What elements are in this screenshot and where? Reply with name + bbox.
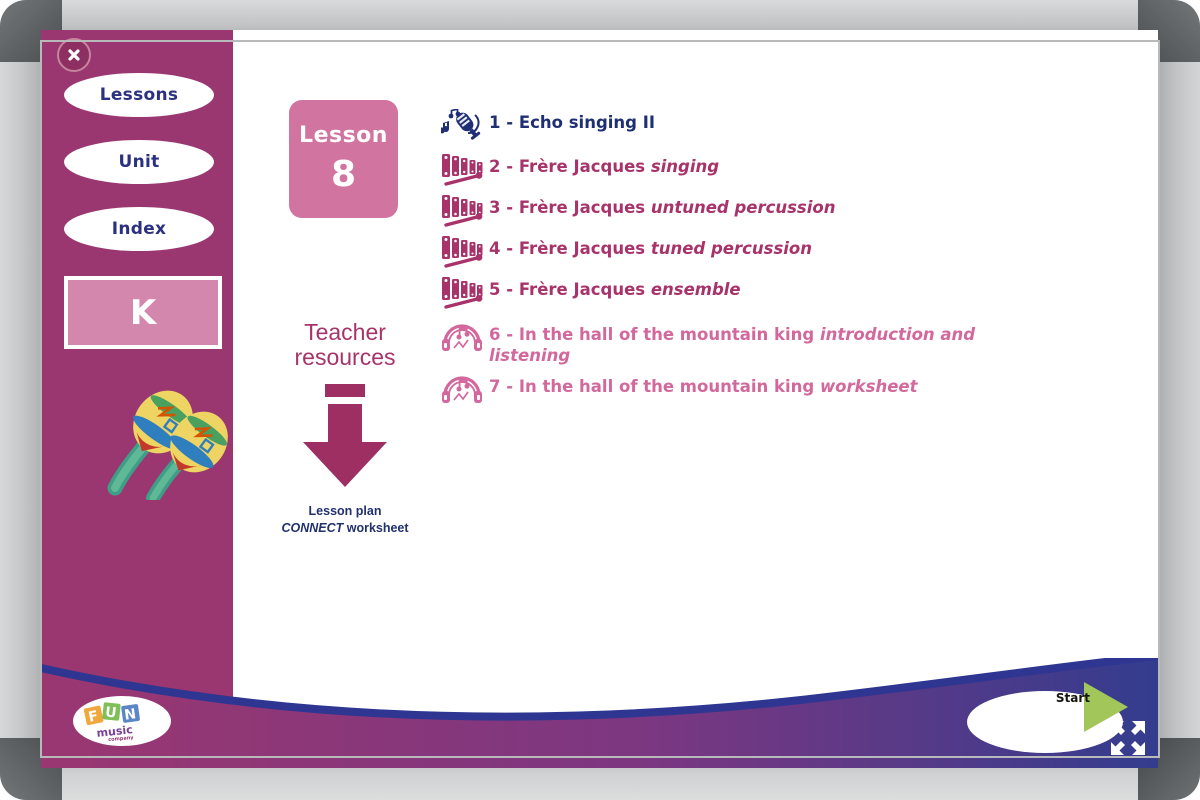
close-icon[interactable] xyxy=(57,38,91,72)
svg-text:N: N xyxy=(123,706,137,723)
xylophone-icon xyxy=(441,234,489,268)
sidebar-item-unit[interactable]: Unit xyxy=(64,140,214,184)
microphone-notes-glyph xyxy=(441,109,485,141)
sidebar-item-label: Unit xyxy=(118,152,159,172)
xylophone-glyph xyxy=(441,275,485,309)
lesson-card-label: Lesson xyxy=(299,125,388,147)
lesson-canvas: Lessons Unit Index K xyxy=(41,30,1158,768)
teacher-resources-title: Teacher resources xyxy=(265,320,425,370)
list-item-title: Echo singing II xyxy=(519,113,655,132)
close-x-glyph xyxy=(67,48,81,62)
list-item-text: 2 - Frère Jacques singing xyxy=(489,152,719,177)
list-item-dash: - xyxy=(506,157,513,176)
list-item-title: Frère Jacques xyxy=(519,239,651,258)
svg-text:U: U xyxy=(104,704,117,721)
list-item-title: In the hall of the mountain king xyxy=(519,325,820,344)
download-arrow-icon xyxy=(291,384,399,490)
list-item-text: 6 - In the hall of the mountain king int… xyxy=(489,320,1001,366)
list-item-title: In the hall of the mountain king xyxy=(519,377,820,396)
list-item-title: Frère Jacques xyxy=(519,280,651,299)
xylophone-glyph xyxy=(441,152,485,186)
list-item-number: 1 xyxy=(489,113,500,132)
sidebar-item-label: Lessons xyxy=(100,85,179,105)
list-item-text: 5 - Frère Jacques ensemble xyxy=(489,275,741,300)
svg-text:company: company xyxy=(108,735,135,743)
list-item-dash: - xyxy=(506,280,513,299)
sidebar-item-label: Index xyxy=(112,219,167,239)
worksheet-word: worksheet xyxy=(343,521,408,535)
lesson-number-card[interactable]: Lesson 8 xyxy=(289,100,398,218)
list-item-dash: - xyxy=(506,325,513,344)
headphones-notes-icon xyxy=(441,372,489,406)
list-item[interactable]: 5 - Frère Jacques ensemble xyxy=(441,275,1001,309)
sidebar-item-lessons[interactable]: Lessons xyxy=(64,73,214,117)
lesson-card-number: 8 xyxy=(331,157,356,193)
fun-music-logo-glyph: F U N music company xyxy=(81,699,163,743)
list-item-dash: - xyxy=(506,377,513,396)
list-item-number: 3 xyxy=(489,198,500,217)
list-item-emphasis: ensemble xyxy=(651,280,741,299)
maracas-icon xyxy=(93,380,233,500)
frame-right-edge xyxy=(1156,32,1200,768)
fun-music-logo[interactable]: F U N music company xyxy=(73,696,171,746)
list-item-text: 3 - Frère Jacques untuned percussion xyxy=(489,193,836,218)
list-item-text: 7 - In the hall of the mountain king wor… xyxy=(489,372,917,397)
list-item-text: 4 - Frère Jacques tuned percussion xyxy=(489,234,812,259)
list-item-number: 7 xyxy=(489,377,500,396)
xylophone-glyph xyxy=(441,234,485,268)
list-item-dash: - xyxy=(506,113,513,132)
teacher-resources-title-line2: resources xyxy=(265,345,425,370)
headphones-notes-glyph xyxy=(441,321,485,353)
start-button-label: Start xyxy=(1056,691,1090,705)
list-item-text: 1 - Echo singing II xyxy=(489,108,655,133)
xylophone-icon xyxy=(441,275,489,309)
frame-left-edge xyxy=(0,32,44,768)
grade-badge-label: K xyxy=(130,293,156,333)
headphones-notes-icon xyxy=(441,320,489,354)
list-item-number: 5 xyxy=(489,280,500,299)
list-item-number: 2 xyxy=(489,157,500,176)
whiteboard-frame: Lessons Unit Index K xyxy=(0,0,1200,800)
list-item-number: 6 xyxy=(489,325,500,344)
list-item[interactable]: 1 - Echo singing II xyxy=(441,108,1001,142)
list-item[interactable]: 6 - In the hall of the mountain king int… xyxy=(441,320,1001,366)
list-item[interactable]: 7 - In the hall of the mountain king wor… xyxy=(441,372,1001,406)
xylophone-glyph xyxy=(441,193,485,227)
grade-badge-k[interactable]: K xyxy=(64,276,222,349)
xylophone-icon xyxy=(441,152,489,186)
list-item-dash: - xyxy=(506,239,513,258)
teacher-resources-sub-line1: Lesson plan xyxy=(265,503,425,520)
list-item-title: Frère Jacques xyxy=(519,157,651,176)
list-item-number: 4 xyxy=(489,239,500,258)
list-item-emphasis: untuned percussion xyxy=(651,198,836,217)
list-item-dash: - xyxy=(506,198,513,217)
list-item[interactable]: 2 - Frère Jacques singing xyxy=(441,152,1001,186)
list-item-emphasis: worksheet xyxy=(820,377,918,396)
xylophone-icon xyxy=(441,193,489,227)
list-item[interactable]: 3 - Frère Jacques untuned percussion xyxy=(441,193,1001,227)
teacher-resources-sub-line2: CONNECT worksheet xyxy=(265,520,425,537)
list-item-emphasis: singing xyxy=(651,157,719,176)
list-item-emphasis: tuned percussion xyxy=(651,239,812,258)
microphone-notes-icon xyxy=(441,108,489,142)
connect-word: CONNECT xyxy=(281,521,343,535)
teacher-resources-title-line1: Teacher xyxy=(265,320,425,345)
list-item-title: Frère Jacques xyxy=(519,198,651,217)
teacher-resources-block[interactable]: Teacher resources Lesson plan CONNECT wo… xyxy=(265,320,425,536)
headphones-notes-glyph xyxy=(441,373,485,405)
fullscreen-expand-icon[interactable] xyxy=(1108,718,1148,758)
sidebar-item-index[interactable]: Index xyxy=(64,207,214,251)
lesson-list: 1 - Echo singing II xyxy=(441,108,1001,413)
list-item[interactable]: 4 - Frère Jacques tuned percussion xyxy=(441,234,1001,268)
teacher-resources-subtitle: Lesson plan CONNECT worksheet xyxy=(265,503,425,537)
